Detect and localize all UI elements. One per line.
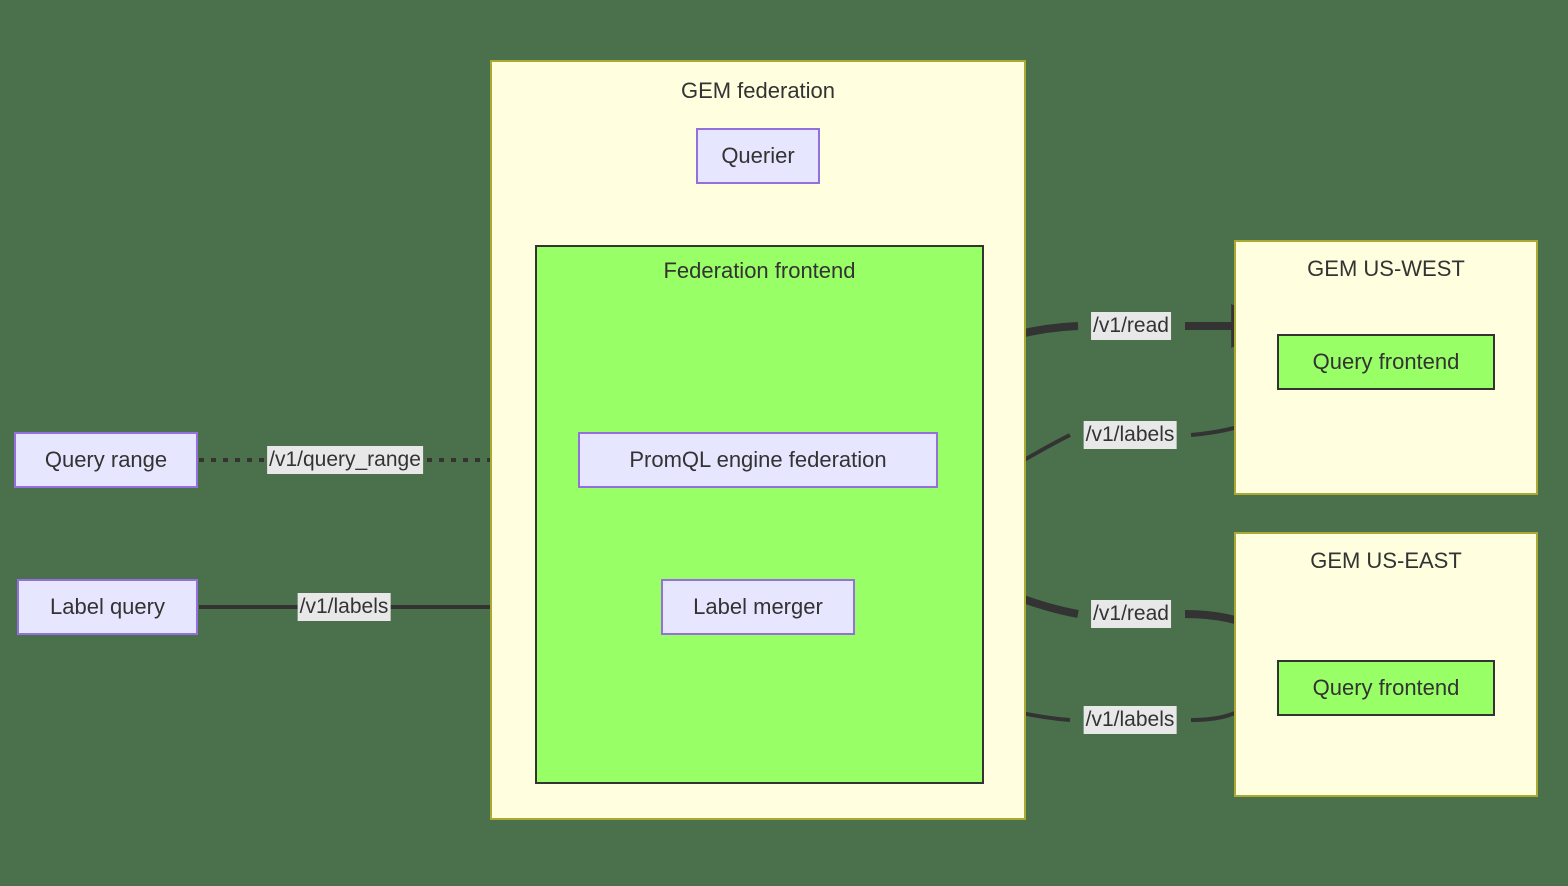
- cluster-federation-frontend-title: Federation frontend: [535, 258, 984, 284]
- edge-label-read-west: /v1/read: [1091, 312, 1171, 340]
- edge-label-read-east: /v1/read: [1091, 600, 1171, 628]
- edge-label-query-range: /v1/query_range: [267, 446, 423, 474]
- edge-label-labels-west: /v1/labels: [1084, 421, 1177, 449]
- node-label-merger-label: Label merger: [693, 594, 823, 620]
- node-label-query[interactable]: Label query: [17, 579, 198, 635]
- node-query-range[interactable]: Query range: [14, 432, 198, 488]
- node-querier-label: Querier: [721, 143, 794, 169]
- node-query-frontend-east-label: Query frontend: [1313, 675, 1460, 701]
- cluster-gem-us-west-title: GEM US-WEST: [1236, 256, 1536, 282]
- node-promql-engine-federation[interactable]: PromQL engine federation: [578, 432, 938, 488]
- node-query-frontend-east[interactable]: Query frontend: [1277, 660, 1495, 716]
- node-query-frontend-west[interactable]: Query frontend: [1277, 334, 1495, 390]
- node-query-frontend-west-label: Query frontend: [1313, 349, 1460, 375]
- node-querier[interactable]: Querier: [696, 128, 820, 184]
- diagram-canvas: GEM federation Querier Federation fronte…: [0, 0, 1568, 886]
- cluster-gem-us-east-title: GEM US-EAST: [1236, 548, 1536, 574]
- cluster-federation-frontend: [535, 245, 984, 784]
- edge-label-labels-in: /v1/labels: [298, 593, 391, 621]
- edge-label-labels-east: /v1/labels: [1084, 706, 1177, 734]
- node-label-query-label: Label query: [50, 594, 165, 620]
- node-label-merger[interactable]: Label merger: [661, 579, 855, 635]
- node-query-range-label: Query range: [45, 447, 167, 473]
- node-promql-engine-federation-label: PromQL engine federation: [629, 447, 886, 473]
- cluster-gem-federation-title: GEM federation: [492, 78, 1024, 104]
